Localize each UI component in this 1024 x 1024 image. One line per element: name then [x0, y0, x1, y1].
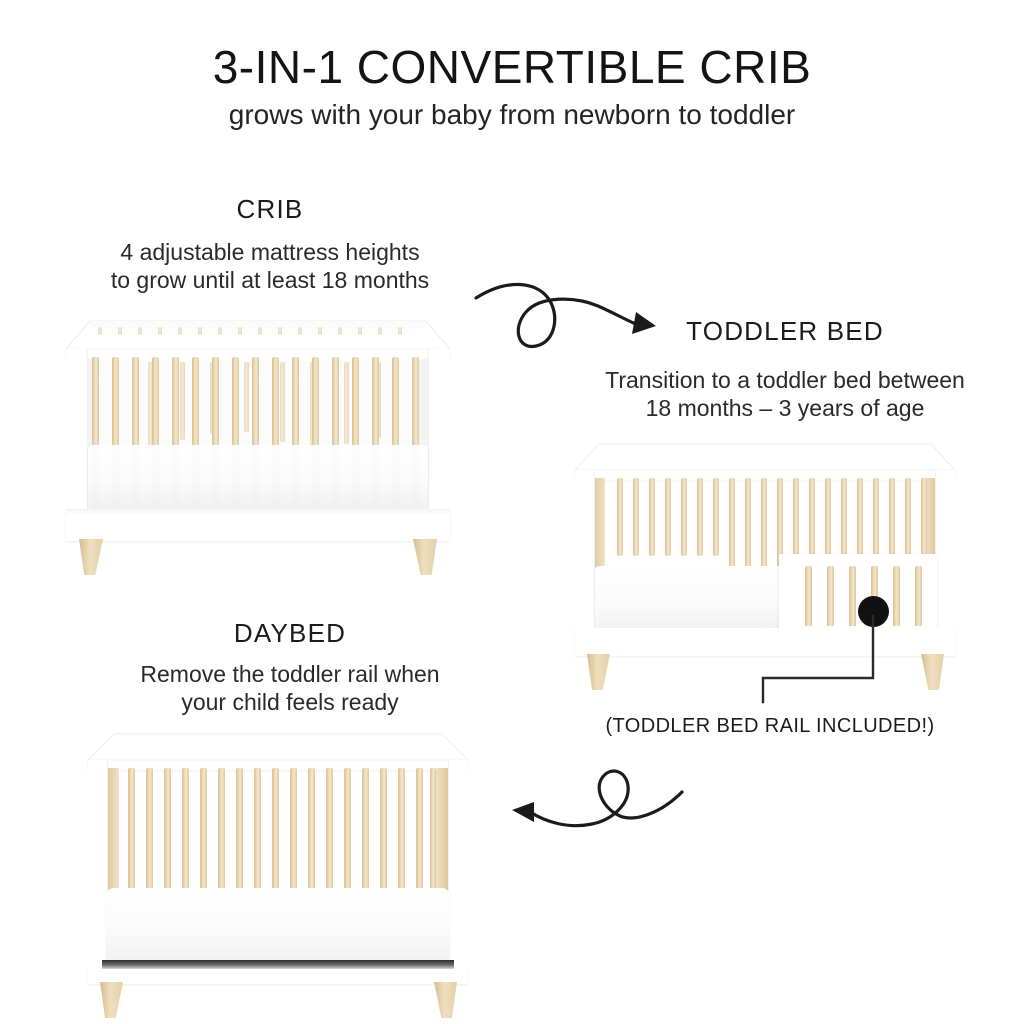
- page-title: 3-IN-1 CONVERTIBLE CRIB: [0, 40, 1024, 94]
- page-subtitle: grows with your baby from newborn to tod…: [0, 99, 1024, 131]
- section-desc-toddler-bed-line2: 18 months – 3 years of age: [565, 394, 1005, 422]
- illustration-daybed: [78, 722, 478, 997]
- section-desc-crib-line1: 4 adjustable mattress heights: [60, 238, 480, 266]
- callout-label: (TODDLER BED RAIL INCLUDED!): [600, 715, 940, 738]
- section-desc-toddler-bed-line1: Transition to a toddler bed between: [565, 366, 1005, 394]
- section-title-toddler-bed: TODDLER BED: [570, 316, 1000, 347]
- daybed-leg-right: [434, 982, 457, 1018]
- arrow-toddler-to-daybed-icon: [500, 758, 690, 858]
- illustration-crib: [58, 305, 458, 575]
- crib-base-shade: [66, 509, 450, 515]
- arrow-crib-to-toddler-icon: [470, 262, 670, 362]
- section-desc-daybed-line2: your child feels ready: [90, 688, 490, 716]
- section-title-crib: CRIB: [60, 194, 480, 225]
- daybed-leg-left: [100, 982, 123, 1018]
- section-title-daybed: DAYBED: [90, 618, 490, 649]
- daybed-mattress: [106, 888, 450, 962]
- infographic-canvas: 3-IN-1 CONVERTIBLE CRIB grows with your …: [0, 0, 1024, 1024]
- daybed-support-bar: [102, 960, 454, 969]
- callout-leader-line: [755, 610, 895, 710]
- section-desc-daybed-line1: Remove the toddler rail when: [90, 660, 490, 688]
- daybed-base-rail: [88, 969, 468, 984]
- crib-mattress: [88, 445, 428, 509]
- daybed-post-right: [448, 760, 468, 958]
- daybed-post-left: [88, 760, 108, 958]
- section-desc-crib-line2: to grow until at least 18 months: [60, 266, 480, 294]
